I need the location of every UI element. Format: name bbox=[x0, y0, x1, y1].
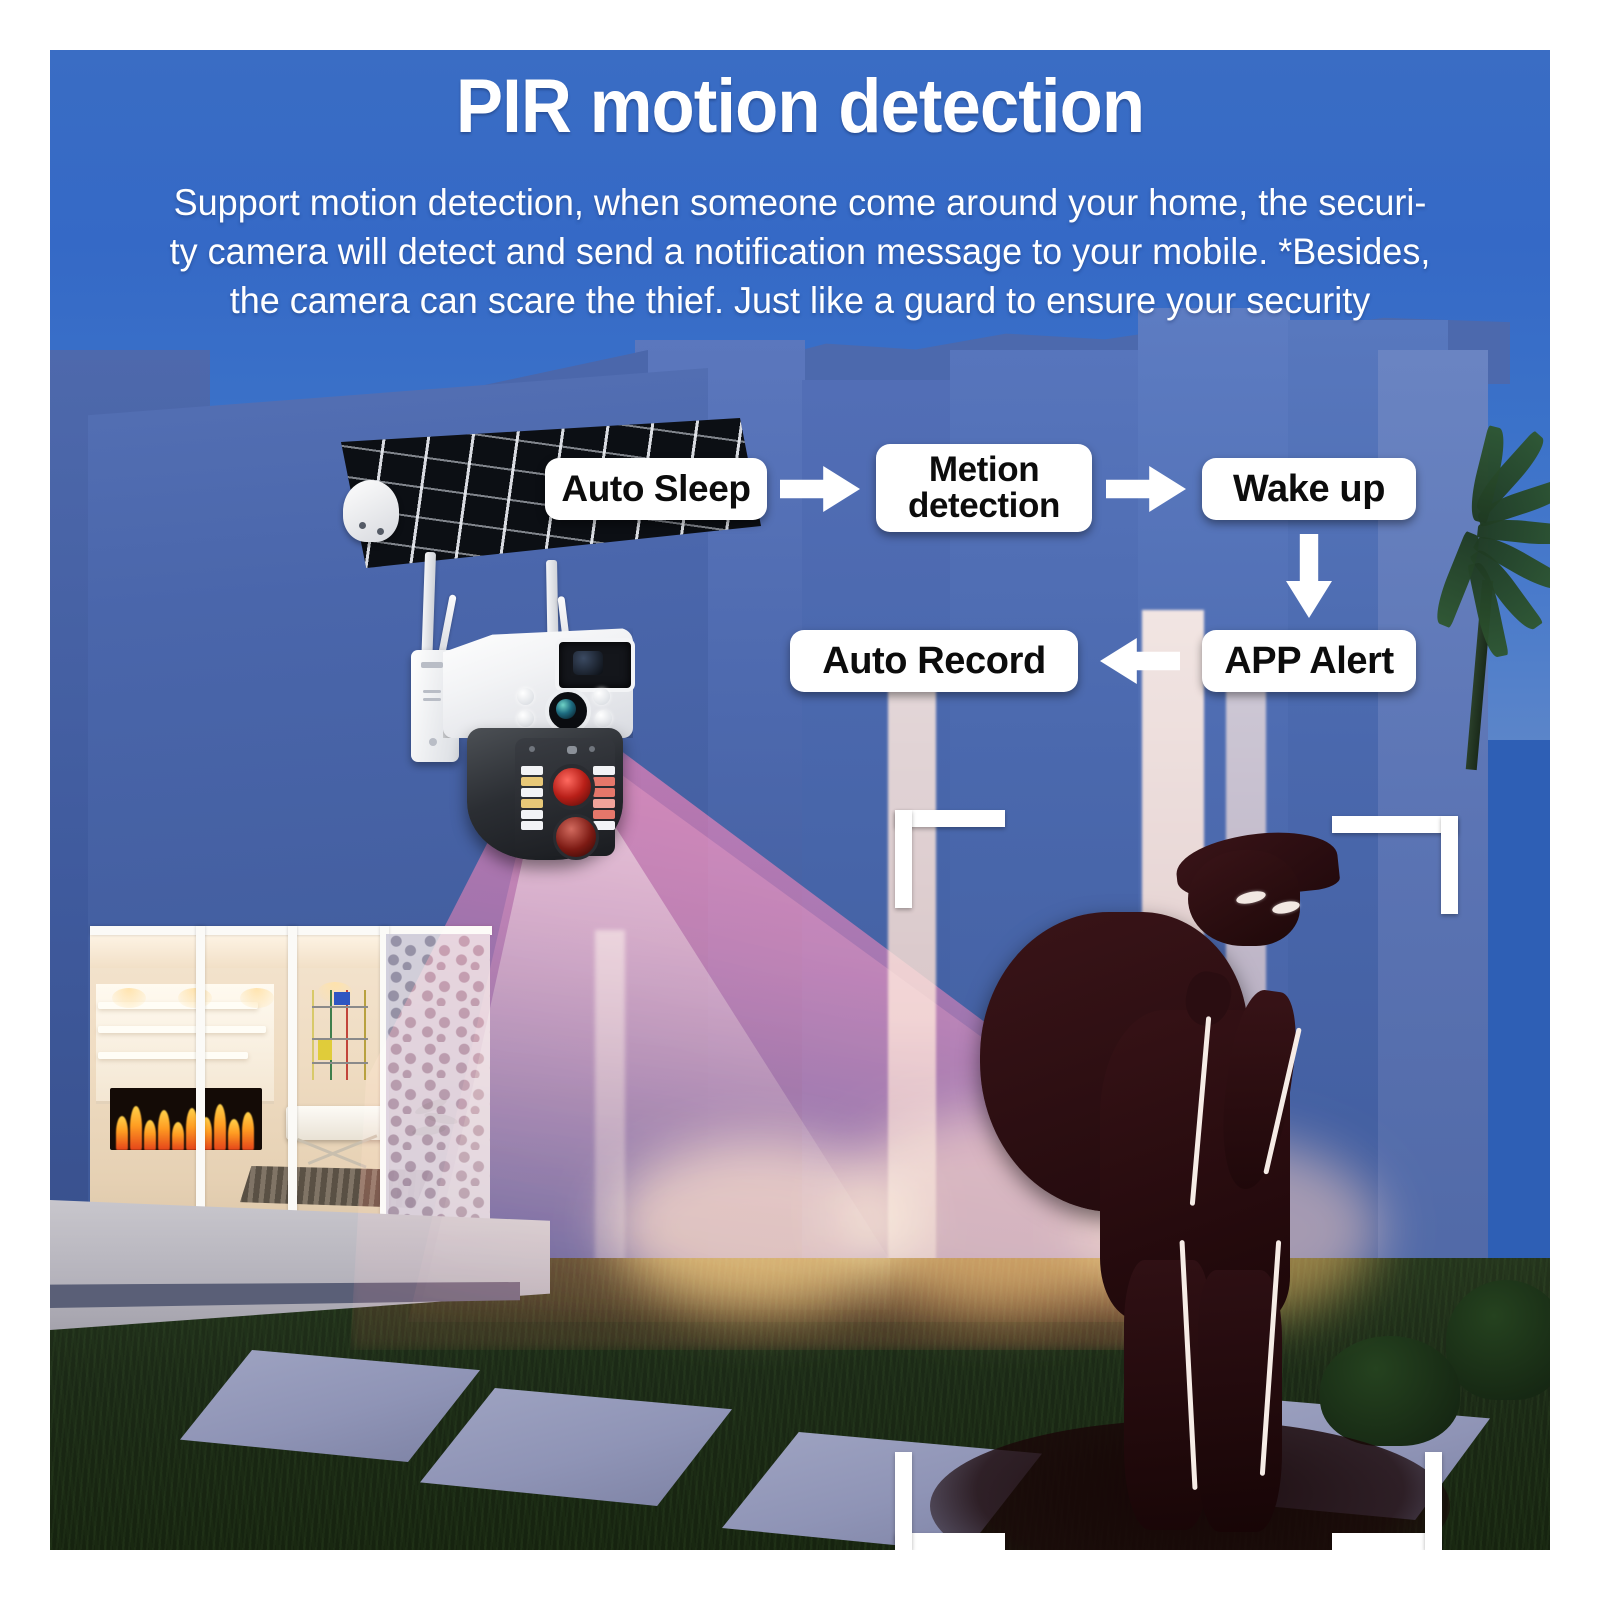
floodlight-led bbox=[517, 710, 534, 727]
page-root: Auto Sleep Metion detection Wake up APP … bbox=[0, 0, 1600, 1600]
flow-step-motion-line1: Metion bbox=[929, 450, 1039, 489]
flow-step-app-alert[interactable]: APP Alert bbox=[1202, 630, 1416, 692]
barcelona-chair bbox=[286, 1106, 386, 1168]
flow-step-auto-record[interactable]: Auto Record bbox=[790, 630, 1078, 692]
siren-speaker bbox=[553, 814, 599, 860]
window-mullion bbox=[196, 926, 205, 1248]
downlight bbox=[178, 988, 212, 1008]
floodlight-led bbox=[595, 710, 612, 727]
mondrian-wall-art bbox=[312, 990, 368, 1080]
flow-step-motion-detection[interactable]: Metion detection bbox=[876, 444, 1092, 532]
shrub bbox=[1446, 1280, 1550, 1400]
description-line: Support motion detection, when someone c… bbox=[120, 178, 1479, 227]
ptz-lens bbox=[549, 764, 595, 810]
floodlight-led bbox=[593, 688, 610, 705]
infographic-panel: Auto Sleep Metion detection Wake up APP … bbox=[50, 50, 1550, 1550]
palm-tree bbox=[1450, 488, 1550, 788]
flow-step-wake-up[interactable]: Wake up bbox=[1202, 458, 1416, 520]
warm-led-bar bbox=[519, 764, 545, 832]
shelf bbox=[98, 1026, 266, 1033]
detection-bracket-top-right bbox=[1312, 816, 1458, 926]
detection-bracket-top-left bbox=[895, 810, 1025, 920]
detection-bracket-bottom-right bbox=[1312, 1440, 1442, 1550]
description-line: ty camera will detect and send a notific… bbox=[120, 227, 1479, 276]
page-description: Support motion detection, when someone c… bbox=[120, 178, 1479, 324]
fireplace bbox=[110, 1088, 262, 1150]
telephoto-lens bbox=[555, 638, 635, 692]
window-mullion bbox=[288, 926, 297, 1248]
description-line: the camera can scare the thief. Just lik… bbox=[120, 276, 1479, 325]
panel-pivot-mount bbox=[343, 480, 399, 542]
flow-step-auto-sleep[interactable]: Auto Sleep bbox=[545, 458, 767, 520]
page-title: PIR motion detection bbox=[103, 68, 1498, 146]
shelf bbox=[98, 1052, 248, 1059]
detection-bracket-bottom-left bbox=[895, 1440, 1025, 1550]
red-led-bar bbox=[591, 764, 617, 832]
flow-step-motion-line2: detection bbox=[908, 486, 1060, 525]
downlight bbox=[240, 988, 274, 1008]
ptz-dome bbox=[467, 728, 623, 860]
floodlight-led bbox=[517, 688, 534, 705]
downlight bbox=[112, 988, 146, 1008]
